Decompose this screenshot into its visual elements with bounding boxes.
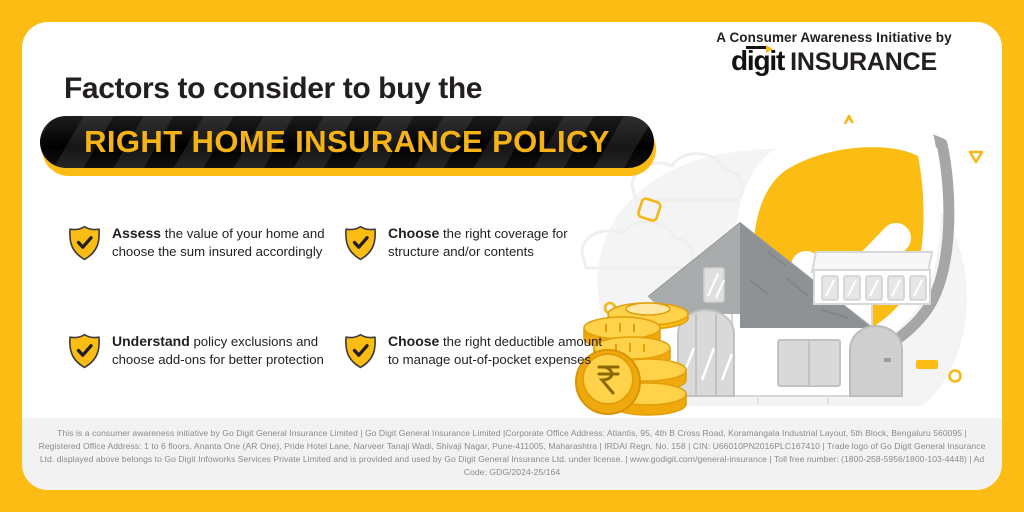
shield-check-icon <box>344 225 377 261</box>
digit-bar-accent <box>746 46 766 49</box>
shield-check-icon <box>68 225 101 261</box>
dormer <box>812 252 932 304</box>
shield-check-icon <box>344 333 377 369</box>
list-item-lead: Assess <box>112 225 161 241</box>
list-item-text: Choose the right deductible amount to ma… <box>388 328 606 369</box>
infographic-card: A Consumer Awareness Initiative by digit… <box>22 22 1002 490</box>
digit-wordmark-text: digit <box>731 45 784 76</box>
digit-wordmark: digit <box>731 47 786 75</box>
list-item: Choose the right coverage for structure … <box>344 220 606 328</box>
disclaimer-text: This is a consumer awareness initiative … <box>36 427 988 479</box>
list-item-text: Assess the value of your home and choose… <box>112 220 330 328</box>
shield-check-icon <box>68 333 101 369</box>
list-item-lead: Choose <box>388 225 439 241</box>
list-item-lead: Choose <box>388 333 439 349</box>
list-item-text: Choose the right coverage for structure … <box>388 220 606 328</box>
list-item-lead: Understand <box>112 333 190 349</box>
brand-logo-panel: A Consumer Awareness Initiative by digit… <box>666 22 1002 82</box>
logo-lockup: digit INSURANCE <box>731 47 937 75</box>
bullet-list: Assess the value of your home and choose… <box>68 220 608 369</box>
title-banner: RIGHT HOME INSURANCE POLICY <box>40 116 658 178</box>
legal-footer: This is a consumer awareness initiative … <box>22 418 1002 490</box>
list-item: Understand policy exclusions and choose … <box>68 328 330 369</box>
banner-title: RIGHT HOME INSURANCE POLICY <box>84 124 610 160</box>
list-item-text: Understand policy exclusions and choose … <box>112 328 330 369</box>
insurance-wordmark: INSURANCE <box>790 50 937 75</box>
banner-plate: RIGHT HOME INSURANCE POLICY <box>40 116 654 168</box>
list-item: Choose the right deductible amount to ma… <box>344 328 606 369</box>
logo-tagline: A Consumer Awareness Initiative by <box>716 31 951 45</box>
page-title: Factors to consider to buy the <box>64 72 482 106</box>
list-item: Assess the value of your home and choose… <box>68 220 330 328</box>
digit-triangle-icon <box>766 45 773 53</box>
